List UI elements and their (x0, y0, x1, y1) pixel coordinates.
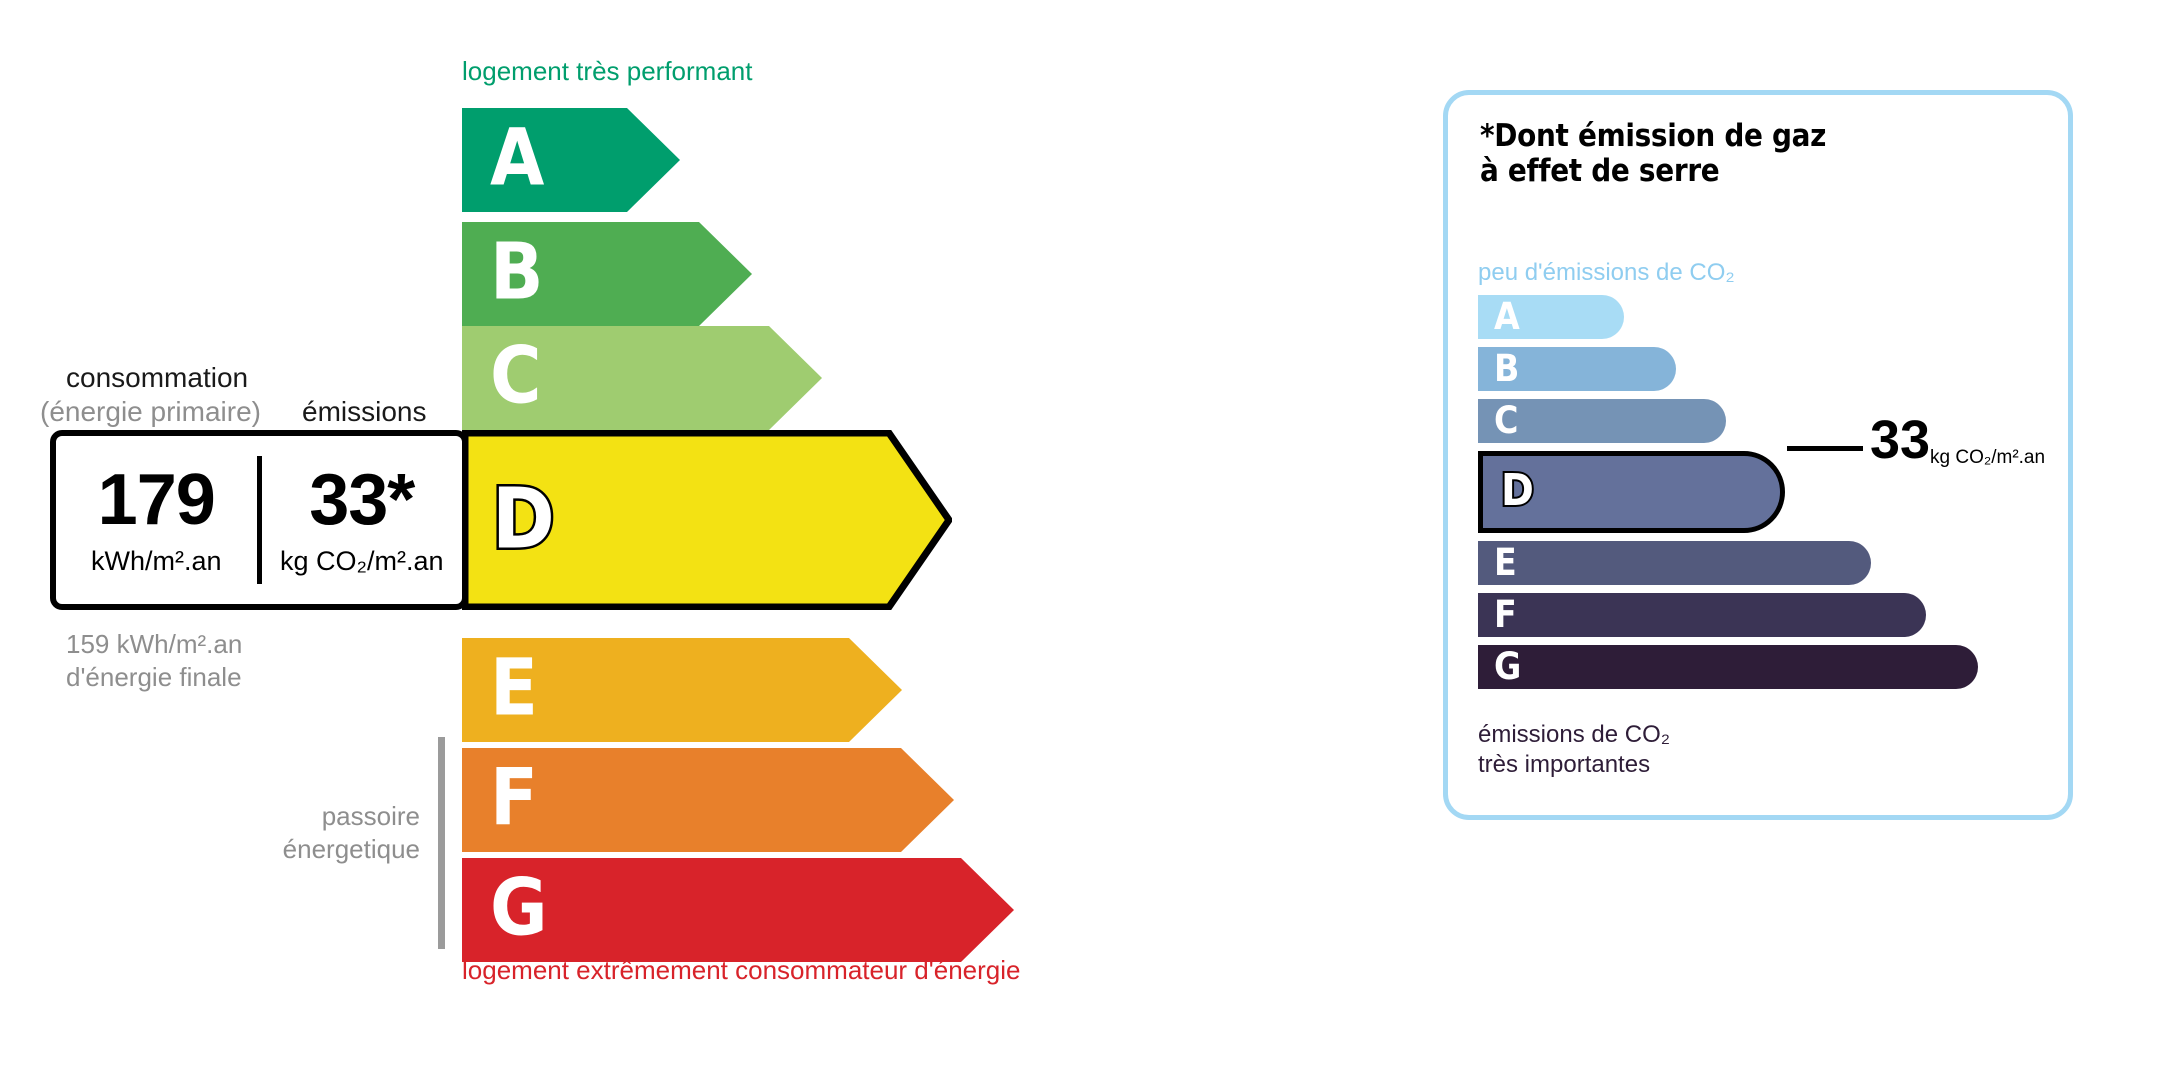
passoire-line1: passoire (160, 800, 420, 833)
co2-class-row-d: D (1478, 451, 1785, 533)
scale-top-label: logement très performant (462, 56, 752, 87)
energy-class-row-a: A (462, 108, 680, 212)
co2-title-line1: *Dont émission de gaz (1480, 119, 1826, 154)
co2-class-letter-g: G (1494, 648, 1521, 685)
co2-leader-line (1787, 446, 1863, 451)
co2-top-label: peu d'émissions de CO₂ (1478, 259, 1735, 287)
co2-panel-title: *Dont émission de gaz à effet de serre (1480, 119, 1826, 188)
co2-bottom-line2: très importantes (1478, 750, 1670, 780)
energy-class-row-b: B (462, 222, 752, 326)
co2-bar-c: C (1478, 399, 1726, 443)
co2-class-letter-b: B (1494, 350, 1519, 387)
co2-emissions-panel: *Dont émission de gaz à effet de serre p… (1443, 90, 2073, 820)
co2-bar-g: G (1478, 645, 1978, 689)
final-energy-note: 159 kWh/m².an d'énergie finale (66, 628, 242, 695)
energy-class-letter-d: D (492, 476, 554, 560)
passoire-energetique-bracket (438, 737, 445, 949)
co2-bar-a: A (1478, 295, 1624, 339)
co2-bar-f: F (1478, 593, 1926, 637)
co2-emission-unit: kg CO₂/m².an (262, 546, 463, 577)
passoire-line2: énergetique (160, 833, 420, 866)
final-energy-value: 159 kWh/m².an (66, 628, 242, 661)
primary-energy-unit: kWh/m².an (56, 546, 257, 577)
label-consommation: consommation (66, 362, 248, 394)
energy-class-letter-a: A (490, 119, 543, 197)
co2-class-row-e: E (1478, 541, 1871, 585)
co2-class-letter-f: F (1494, 596, 1517, 633)
co2-class-letter-e: E (1494, 544, 1517, 581)
energy-performance-diagram: logement très performant A B C D E (0, 0, 1400, 1079)
co2-class-letter-c: C (1494, 402, 1518, 439)
consumption-value-box: 179 kWh/m².an 33* kg CO₂/m².an (50, 430, 468, 610)
label-energie-primaire: (énergie primaire) (40, 396, 261, 428)
passoire-energetique-label: passoire énergetique (160, 800, 420, 867)
energy-class-row-d: D (462, 430, 952, 610)
co2-bar-b: B (1478, 347, 1676, 391)
energy-class-letter-c: C (490, 337, 541, 415)
co2-class-row-f: F (1478, 593, 1926, 637)
energy-class-letter-g: G (490, 869, 547, 947)
energy-class-row-f: F (462, 748, 954, 852)
energy-class-row-g: G (462, 858, 1014, 962)
co2-bottom-line1: émissions de CO₂ (1478, 720, 1670, 750)
co2-class-row-g: G (1478, 645, 1978, 689)
co2-bar-d: D (1478, 451, 1785, 533)
co2-emission-value: 33* (262, 464, 463, 536)
co2-callout-unit: kg CO₂/m².an (1930, 447, 2045, 469)
co2-title-line2: à effet de serre (1480, 154, 1826, 189)
final-energy-caption: d'énergie finale (66, 661, 242, 694)
co2-class-row-b: B (1478, 347, 1676, 391)
co2-class-letter-d: D (1501, 469, 1534, 513)
co2-value-cell: 33* kg CO₂/m².an (262, 464, 463, 577)
co2-bar-e: E (1478, 541, 1871, 585)
label-emissions: émissions (302, 396, 426, 428)
co2-bottom-label: émissions de CO₂ très importantes (1478, 720, 1670, 780)
co2-class-row-a: A (1478, 295, 1624, 339)
energy-class-row-e: E (462, 638, 902, 742)
energy-class-letter-b: B (490, 233, 542, 311)
energy-class-letter-f: F (490, 759, 537, 837)
co2-class-row-c: C (1478, 399, 1726, 443)
co2-callout-value: 33 (1870, 413, 1930, 467)
primary-energy-value: 179 (56, 464, 257, 536)
primary-energy-cell: 179 kWh/m².an (56, 464, 257, 577)
scale-bottom-label: logement extrêmement consommateur d'éner… (462, 955, 1020, 986)
energy-class-row-c: C (462, 326, 822, 430)
co2-class-letter-a: A (1494, 298, 1520, 335)
energy-class-letter-e: E (490, 649, 537, 727)
